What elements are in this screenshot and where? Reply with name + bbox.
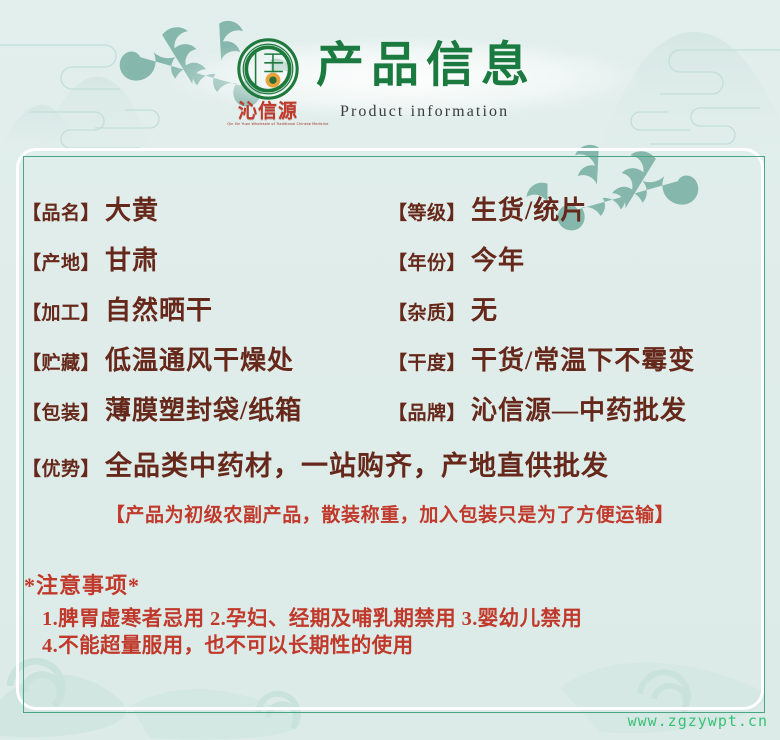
spec-value: 大黄 [105,190,159,227]
page-subtitle: Product information [340,103,509,121]
spec-row: 【产地】 甘肃 [22,240,159,277]
site-watermark: www.zgzywpt.cn [628,712,768,730]
spec-value: 生货/统片 [471,190,587,227]
spec-label: 【等级】 [388,198,466,225]
spec-value: 自然晒干 [105,290,213,327]
spec-row: 【包装】 薄膜塑封袋/纸箱 [22,390,302,427]
spec-label: 【品牌】 [388,398,466,425]
spec-label: 【干度】 [388,348,466,375]
packaging-disclaimer: 【产品为初级农副产品，散装称重，加入包装只是为了方便运输】 [0,500,780,527]
notice-line-2: 4.不能超量服用，也不可以长期性的使用 [42,633,582,660]
spec-label: 【包装】 [22,398,100,425]
spec-value: 今年 [471,240,525,277]
brand-name-cn: 沁信源 [228,101,308,121]
product-information-page: 沁信源 Qin Xin Yuan Wholesale of Traditiona… [0,0,780,740]
page-header: 沁信源 Qin Xin Yuan Wholesale of Traditiona… [0,0,780,150]
spec-row: 【年份】 今年 [388,240,525,277]
spec-row: 【杂质】 无 [388,290,498,327]
company-seal-logo-icon [237,38,299,100]
spec-row: 【贮藏】 低温通风干燥处 [22,340,294,377]
spec-value: 沁信源—中药批发 [471,390,687,427]
spec-value: 全品类中药材，一站购齐，产地直供批发 [105,444,609,483]
spec-row: 【品名】 大黄 [22,190,159,227]
spec-row: 【品牌】 沁信源—中药批发 [388,390,687,427]
spec-label: 【品名】 [22,198,100,225]
spec-value: 薄膜塑封袋/纸箱 [105,390,302,427]
spec-label: 【加工】 [22,298,100,325]
brand-logo: 沁信源 Qin Xin Yuan Wholesale of Traditiona… [228,38,308,134]
brand-name-en: Qin Xin Yuan Wholesale of Traditional Ch… [227,122,309,126]
spec-value: 无 [471,290,498,327]
spec-label: 【产地】 [22,248,100,275]
spec-label: 【杂质】 [388,298,466,325]
spec-row-advantage: 【优势】 全品类中药材，一站购齐，产地直供批发 [22,444,609,483]
spec-value: 干货/常温下不霉变 [471,340,695,377]
spec-value: 低温通风干燥处 [105,340,294,377]
notice-body: 1.脾胃虚寒者忌用 2.孕妇、经期及哺乳期禁用 3.婴幼儿禁用 4.不能超量服用… [42,606,582,660]
product-spec-content: 【品名】 大黄 【产地】 甘肃 【加工】 自然晒干 【贮藏】 低温通风干燥处 【… [0,148,780,718]
notice-heading: *注意事项* [24,568,140,600]
spec-row: 【干度】 干货/常温下不霉变 [388,340,695,377]
spec-row: 【等级】 生货/统片 [388,190,587,227]
spec-label: 【贮藏】 [22,348,100,375]
spec-value: 甘肃 [105,240,159,277]
notice-line-1: 1.脾胃虚寒者忌用 2.孕妇、经期及哺乳期禁用 3.婴幼儿禁用 [42,606,582,633]
spec-row: 【加工】 自然晒干 [22,290,213,327]
spec-label: 【优势】 [22,454,100,481]
page-title: 产品信息 [316,38,536,94]
spec-label: 【年份】 [388,248,466,275]
